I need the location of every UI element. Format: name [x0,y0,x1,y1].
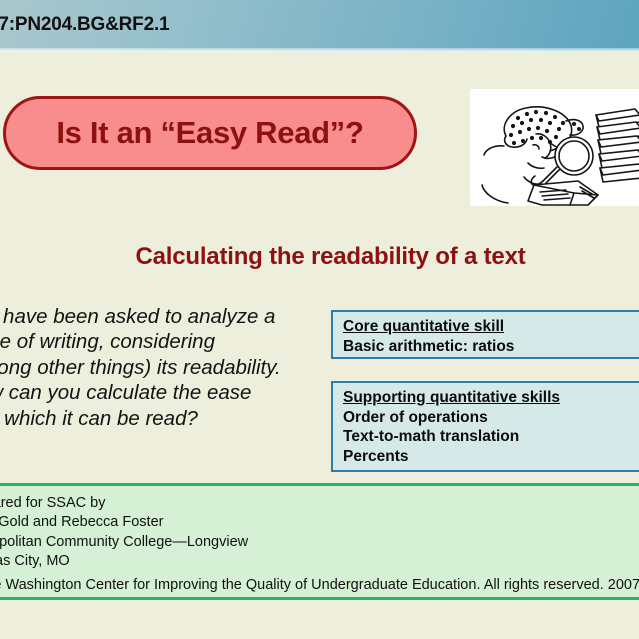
prompt-line: piece of writing, considering [0,329,322,354]
slide-title-banner: Is It an “Easy Read”? [3,96,417,170]
slide-canvas: 07:PN204.BG&RF2.1 Is It an “Easy Read”? [0,0,639,639]
detective-reading-illustration-panel [470,89,639,206]
credits-text: Prepared for SSAC by Mark Gold and Rebec… [0,494,248,572]
supporting-skill-item: Order of operations [343,408,639,428]
supporting-skill-item: Percents [343,447,639,467]
prompt-paragraph: You have been asked to analyze a piece o… [0,304,322,431]
prompt-line: with which it can be read? [0,406,322,431]
supporting-skills-heading: Supporting quantitative skills [343,388,639,408]
core-skill-heading: Core quantitative skill [343,317,639,337]
footer-block: Prepared for SSAC by Mark Gold and Rebec… [0,483,639,600]
prompt-line: (among other things) its readability. [0,355,322,380]
core-quantitative-skill-box: Core quantitative skill Basic arithmetic… [331,310,639,359]
credit-line: Kansas City, MO [0,552,248,571]
credit-line: Mark Gold and Rebecca Foster [0,513,248,532]
supporting-quantitative-skills-box: Supporting quantitative skills Order of … [331,381,639,472]
prompt-line: You have been asked to analyze a [0,304,322,329]
supporting-skill-item: Text-to-math translation [343,427,639,447]
header-band: 07:PN204.BG&RF2.1 [0,0,639,52]
credit-line: Prepared for SSAC by [0,494,248,513]
slide-title-text: Is It an “Easy Read”? [56,115,363,151]
credit-line: Metropolitan Community College—Longview [0,533,248,552]
slide-subtitle: Calculating the readability of a text [0,243,639,271]
detective-reading-with-magnifier-icon [470,89,639,206]
prompt-line: How can you calculate the ease [0,380,322,405]
copyright-text: © The Washington Center for Improving th… [0,577,639,593]
core-skill-item: Basic arithmetic: ratios [343,337,639,357]
module-id-label: 07:PN204.BG&RF2.1 [0,14,169,36]
